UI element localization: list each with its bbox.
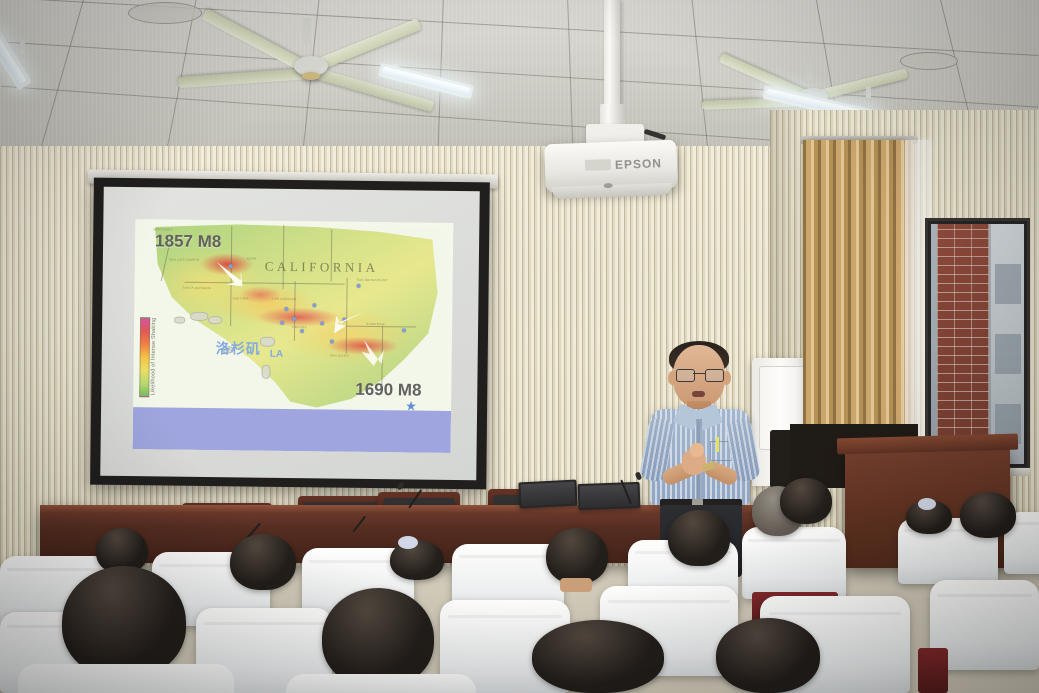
audience-head <box>780 478 832 524</box>
map-place-label: SANTA BARBARA <box>183 286 212 290</box>
legend-label: Likelihood of Intense Shaking <box>150 317 163 395</box>
projection-screen[interactable]: CALIFORNIA MONTEREY SAN LUIS OBISPO SANT… <box>90 178 490 490</box>
pointer-arrow-tail <box>360 338 386 368</box>
pointer-arrow-southeast <box>332 310 366 336</box>
audience-head <box>716 618 820 693</box>
audience-shoulders <box>286 674 476 693</box>
projection-screen-surface: CALIFORNIA MONTEREY SAN LUIS OBISPO SANT… <box>100 187 480 481</box>
fan-downrod <box>806 58 813 80</box>
projector-brand-label: EPSON <box>615 156 662 172</box>
city-label-la-english: LA <box>270 349 283 360</box>
ceiling-vent <box>900 52 958 70</box>
quake-label-1690: 1690 M8 <box>355 380 421 401</box>
audience-head <box>322 588 434 688</box>
slide-map-area: CALIFORNIA MONTEREY SAN LUIS OBISPO SANT… <box>133 219 453 413</box>
map-place-label: KERN <box>247 256 257 260</box>
laptop[interactable] <box>578 482 641 510</box>
map-place-label: SAN DIEGO <box>330 353 349 357</box>
slide-bottom-band <box>133 407 451 453</box>
presenter-finger <box>690 443 704 457</box>
map-place-label: RIVERSIDE <box>366 322 385 326</box>
audience-head <box>960 492 1016 538</box>
map-place-label: VENTURA <box>232 296 248 300</box>
pen-icon <box>716 437 719 452</box>
presenter-mouth <box>692 391 705 397</box>
map-state-label: CALIFORNIA <box>265 259 379 276</box>
audience-head <box>546 528 608 584</box>
hair-tie <box>398 536 418 549</box>
audience-head <box>230 534 296 590</box>
projector-mount-pole <box>604 0 620 118</box>
hair-tie <box>918 498 936 510</box>
audience-head <box>668 510 730 566</box>
seat[interactable] <box>742 527 846 599</box>
laptop[interactable] <box>518 480 577 509</box>
exterior-brick-wall <box>937 224 989 464</box>
audience-shoulders <box>18 664 234 693</box>
seat-frame <box>918 648 948 693</box>
quake-label-1857: 1857 M8 <box>155 231 221 252</box>
exterior-building <box>991 224 1024 464</box>
window-curtain[interactable] <box>803 140 913 470</box>
projected-slide: CALIFORNIA MONTEREY SAN LUIS OBISPO SANT… <box>133 219 454 453</box>
pointer-arrow-north <box>215 260 245 288</box>
map-place-label: ORANGE <box>292 325 307 329</box>
lecture-hall-photo: CALIFORNIA MONTEREY SAN LUIS OBISPO SANT… <box>0 0 1039 693</box>
legend-color-bar <box>139 317 150 397</box>
fan-light-cap <box>302 72 320 80</box>
audience-head <box>62 566 186 678</box>
map-place-label: SAN LUIS OBISPO <box>169 258 200 262</box>
audience-head <box>532 620 664 693</box>
audience-head <box>390 540 444 580</box>
window <box>925 218 1030 470</box>
glasses-icon <box>676 369 722 380</box>
ceiling-vent <box>128 2 202 24</box>
fan-downrod <box>303 18 311 44</box>
map-place-label: SAN BERNARDINO <box>357 278 388 282</box>
presenter <box>640 345 760 530</box>
projector-logo-plate <box>585 159 611 171</box>
map-place-label: LOS ANGELES <box>272 297 296 301</box>
lectern-top-surface <box>837 434 1018 455</box>
window-glass <box>931 224 1024 464</box>
audience-neck <box>560 578 592 592</box>
epson-projector[interactable]: EPSON <box>544 140 678 193</box>
city-label-la-chinese: 洛杉矶 <box>216 338 261 359</box>
map-legend: Likelihood of Intense Shaking <box>139 317 170 395</box>
